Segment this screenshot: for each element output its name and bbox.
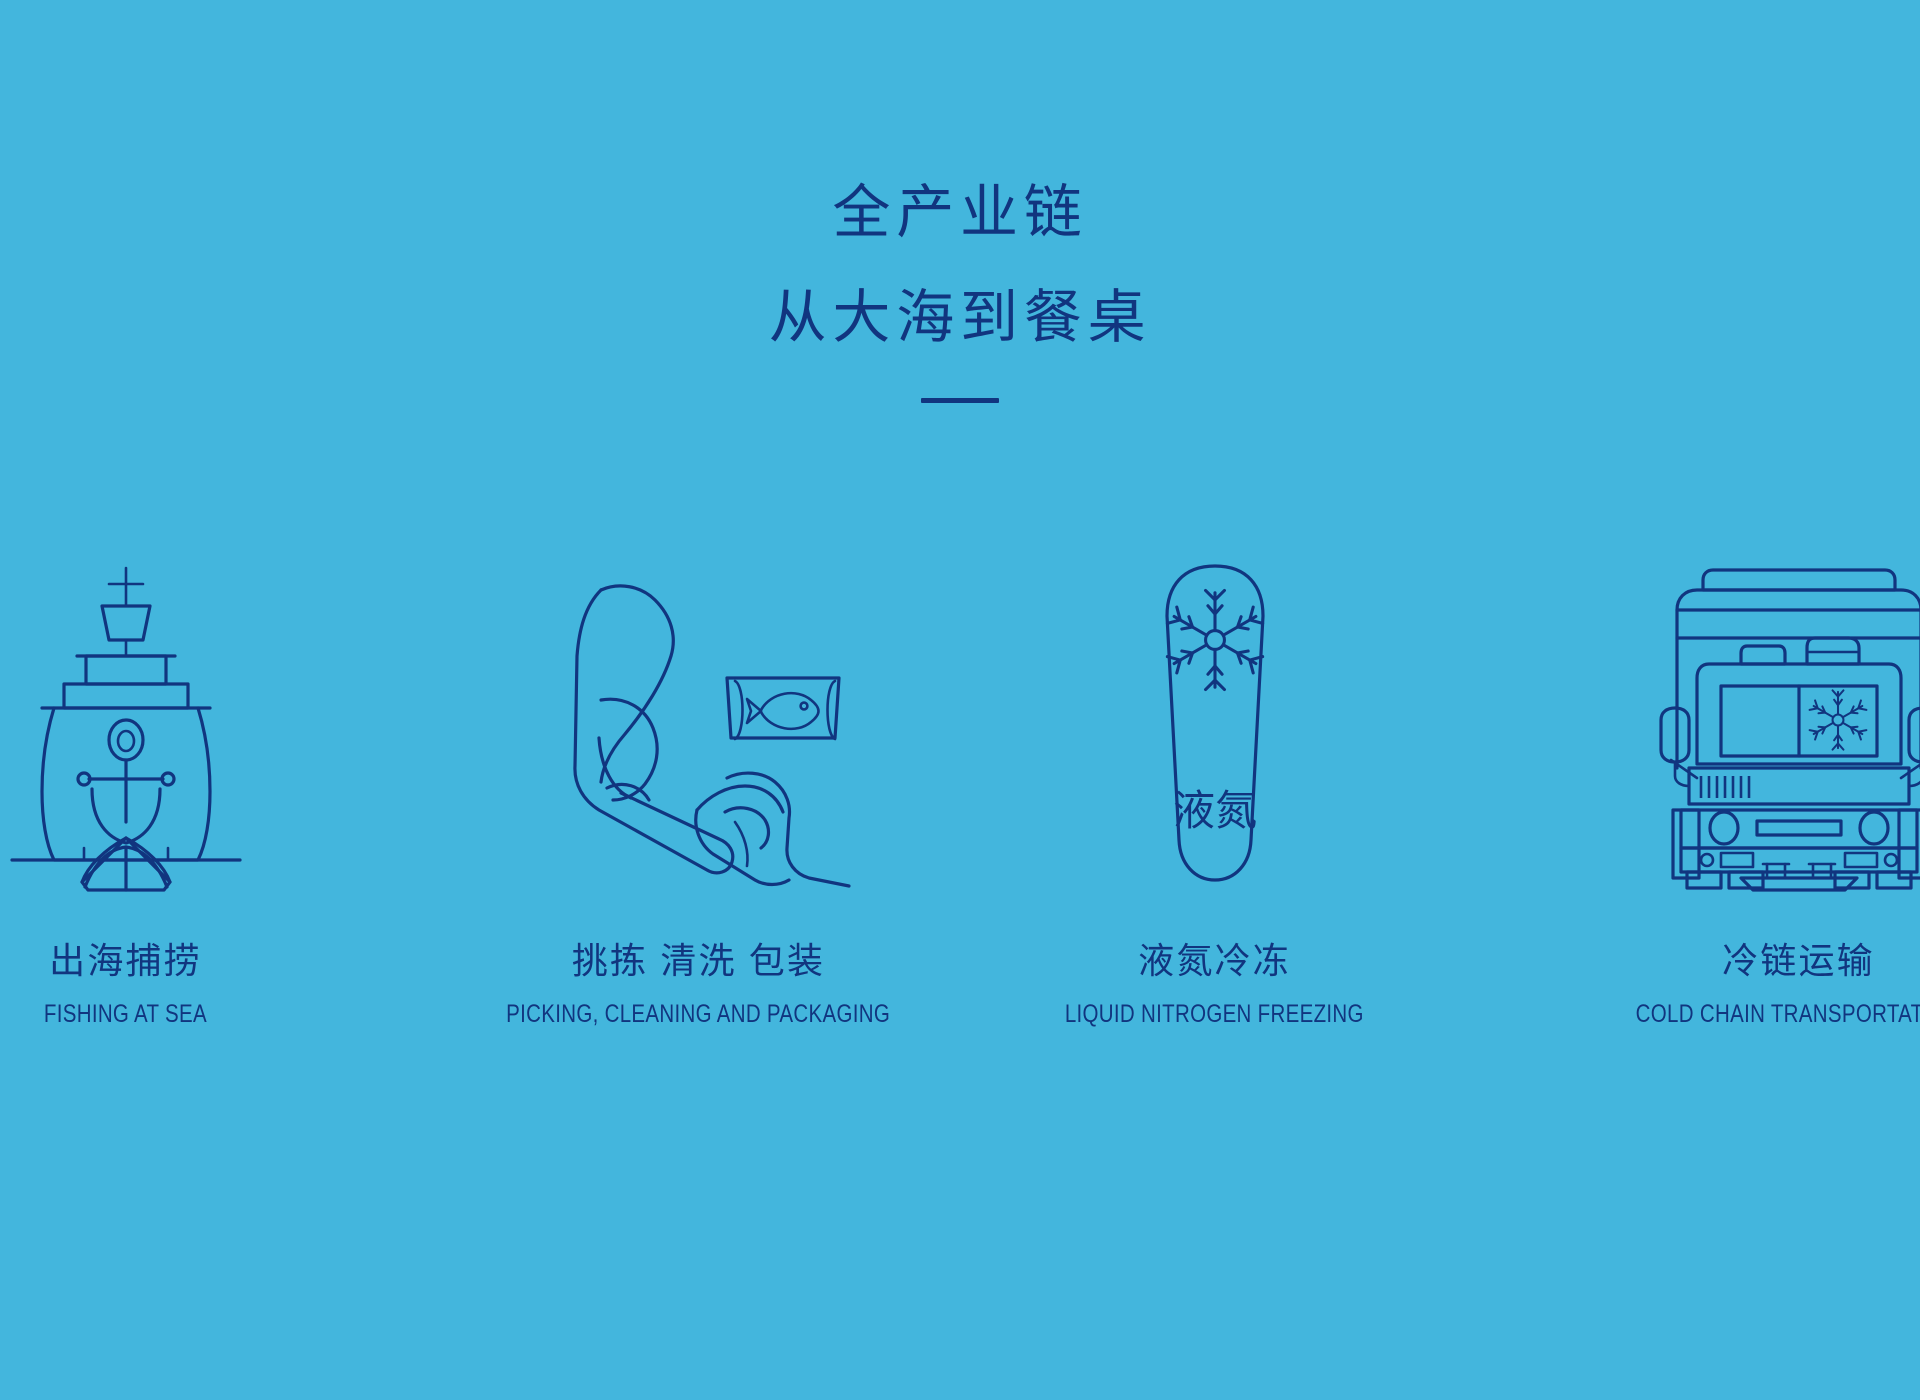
title-divider (921, 398, 999, 403)
step-labels: 挑拣 清洗 包装 PICKING, CLEANING AND PACKAGING (464, 938, 932, 1029)
step-fishing-at-sea[interactable]: 出海捕捞 FISHING AT SEA (10, 530, 485, 1029)
step-label-en: LIQUID NITROGEN FREEZING (1065, 999, 1364, 1029)
step-cold-chain-transportation[interactable]: 冷链运输 COLD CHAIN TRANSPORTATION (1435, 530, 1910, 1029)
refrigerated-truck-icon (1649, 530, 1920, 890)
tank-text: 液氮 (1172, 787, 1256, 834)
hands-packaging-fish-icon (549, 530, 849, 890)
step-liquid-nitrogen-freezing[interactable]: 液氮 液氮冷冻 LIQUID NITROGEN FREEZING (960, 530, 1435, 1029)
step-label-en: PICKING, CLEANING AND PACKAGING (507, 999, 891, 1029)
step-label-cn: 挑拣 清洗 包装 (464, 938, 932, 983)
step-picking-cleaning-packaging[interactable]: 挑拣 清洗 包装 PICKING, CLEANING AND PACKAGING (485, 530, 960, 1029)
step-label-cn: 冷链运输 (1600, 938, 1920, 983)
process-steps: 出海捕捞 FISHING AT SEA (0, 530, 1920, 1029)
page-header: 全产业链 从大海到餐桌 (0, 0, 1920, 403)
page-title-line-1: 全产业链 (0, 178, 1920, 249)
step-labels: 冷链运输 COLD CHAIN TRANSPORTATION (1600, 938, 1920, 1029)
step-labels: 出海捕捞 FISHING AT SEA (26, 938, 225, 1029)
step-label-cn: 液氮冷冻 (1032, 938, 1397, 983)
step-labels: 液氮冷冻 LIQUID NITROGEN FREEZING (1032, 938, 1397, 1029)
fishing-boat-icon (0, 530, 276, 890)
step-label-en: COLD CHAIN TRANSPORTATION (1636, 999, 1920, 1029)
liquid-nitrogen-tank-icon: 液氮 (1065, 530, 1365, 890)
snowflake-icon (1167, 590, 1262, 689)
snowflake-icon (1809, 690, 1866, 749)
step-label-cn: 出海捕捞 (26, 938, 225, 983)
page-title-line-2: 从大海到餐桌 (0, 283, 1920, 354)
step-label-en: FISHING AT SEA (44, 999, 207, 1029)
